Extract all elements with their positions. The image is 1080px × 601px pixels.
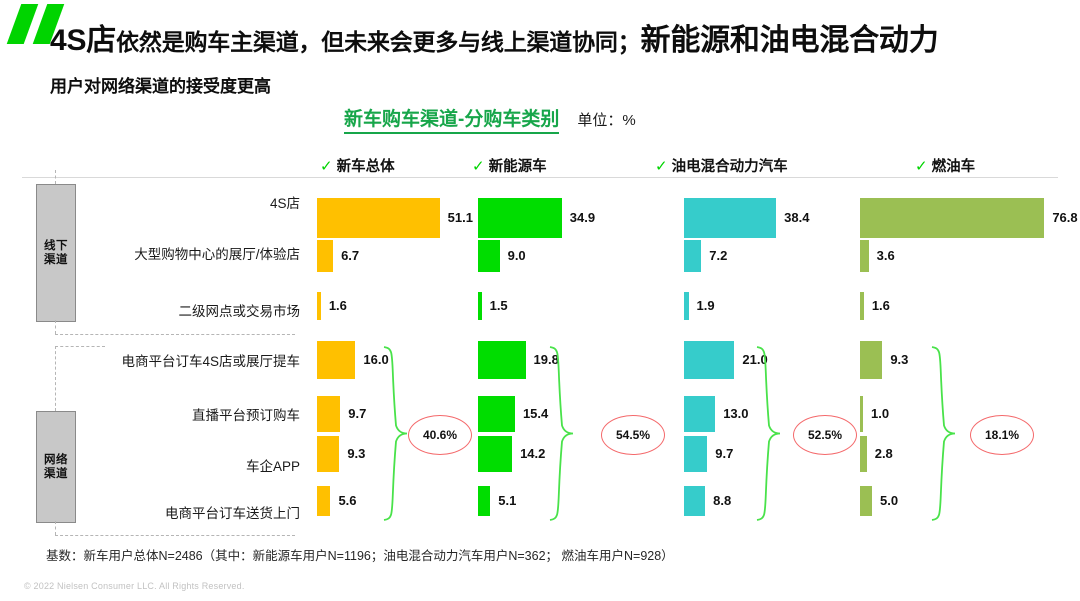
bar-value-s1-r2: 1.5	[490, 298, 508, 313]
bar-s1-r6	[478, 486, 490, 516]
bar-s2-r6	[684, 486, 705, 516]
bar-s2-r3	[684, 341, 734, 379]
bar-value-s2-r2: 1.9	[697, 298, 715, 313]
bar-value-s1-r5: 14.2	[520, 446, 545, 461]
bar-s3-r2	[860, 292, 864, 320]
bar-s1-r1	[478, 240, 500, 272]
bar-value-s3-r5: 2.8	[875, 446, 893, 461]
bar-s0-r5	[317, 436, 339, 472]
bar-s3-r5	[860, 436, 867, 472]
chart-plot-area: 51.16.71.616.09.79.35.634.99.01.519.815.…	[0, 0, 1080, 601]
bar-s0-r1	[317, 240, 333, 272]
bar-s0-r0	[317, 198, 440, 238]
bar-s0-r6	[317, 486, 330, 516]
bar-value-s3-r4: 1.0	[871, 406, 889, 421]
bar-s2-r0	[684, 198, 776, 238]
bar-s1-r5	[478, 436, 512, 472]
bar-s2-r2	[684, 292, 689, 320]
online-total-bubble-s3: 18.1%	[970, 415, 1034, 455]
brace-s2	[755, 345, 781, 522]
bar-s0-r3	[317, 341, 355, 379]
bar-value-s3-r6: 5.0	[880, 493, 898, 508]
bar-value-s1-r1: 9.0	[508, 248, 526, 263]
bar-s1-r0	[478, 198, 562, 238]
bar-value-s2-r5: 9.7	[715, 446, 733, 461]
online-total-bubble-s2: 52.5%	[793, 415, 857, 455]
online-total-bubble-s0: 40.6%	[408, 415, 472, 455]
bar-s2-r4	[684, 396, 715, 432]
bar-value-s1-r0: 34.9	[570, 210, 595, 225]
bar-value-s3-r2: 1.6	[872, 298, 890, 313]
bar-value-s0-r2: 1.6	[329, 298, 347, 313]
bar-value-s0-r0: 51.1	[448, 210, 473, 225]
bar-value-s0-r1: 6.7	[341, 248, 359, 263]
brace-s0	[382, 345, 408, 522]
online-total-bubble-s1: 54.5%	[601, 415, 665, 455]
bar-s1-r4	[478, 396, 515, 432]
bar-value-s0-r5: 9.3	[347, 446, 365, 461]
bar-s3-r6	[860, 486, 872, 516]
brace-s3	[930, 345, 956, 522]
bar-value-s1-r4: 15.4	[523, 406, 548, 421]
bar-s3-r3	[860, 341, 882, 379]
bar-value-s1-r6: 5.1	[498, 493, 516, 508]
bar-value-s3-r0: 76.8	[1052, 210, 1077, 225]
bar-value-s0-r4: 9.7	[348, 406, 366, 421]
bar-s1-r2	[478, 292, 482, 320]
bar-value-s2-r6: 8.8	[713, 493, 731, 508]
bar-s3-r4	[860, 396, 863, 432]
bar-value-s0-r6: 5.6	[338, 493, 356, 508]
bar-value-s3-r1: 3.6	[877, 248, 895, 263]
slide-root: 4S店依然是购车主渠道，但未来会更多与线上渠道协同；新能源和油电混合动力 用户对…	[0, 0, 1080, 601]
bar-s2-r5	[684, 436, 707, 472]
bar-s2-r1	[684, 240, 701, 272]
bar-value-s2-r4: 13.0	[723, 406, 748, 421]
bar-value-s2-r1: 7.2	[709, 248, 727, 263]
bar-s1-r3	[478, 341, 526, 379]
chart-footnote: 基数：新车用户总体N=2486（其中：新能源车用户N=1196；油电混合动力汽车…	[46, 545, 674, 564]
bar-s3-r0	[860, 198, 1044, 238]
bar-value-s3-r3: 9.3	[890, 352, 908, 367]
bar-value-s2-r0: 38.4	[784, 210, 809, 225]
bar-s3-r1	[860, 240, 869, 272]
copyright-notice: © 2022 Nielsen Consumer LLC. All Rights …	[24, 581, 245, 591]
bar-s0-r4	[317, 396, 340, 432]
bar-s0-r2	[317, 292, 321, 320]
brace-s1	[548, 345, 574, 522]
